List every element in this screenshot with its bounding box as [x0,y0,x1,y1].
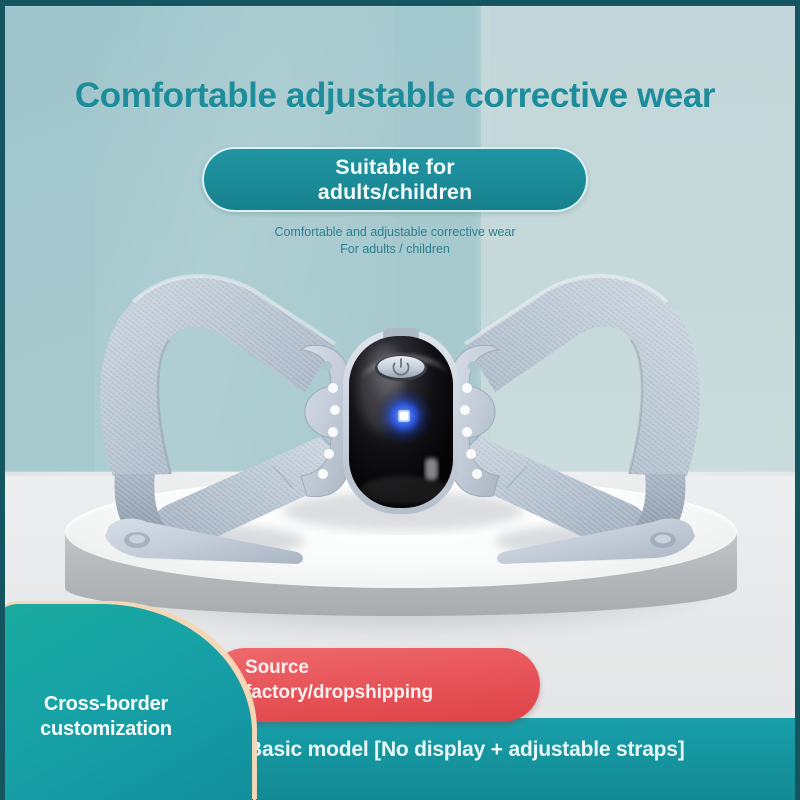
led-indicator [374,386,434,446]
power-button[interactable] [375,355,427,381]
page-title: Comfortable adjustable corrective wear [0,76,790,116]
cross-border-text: Cross-border customization [8,692,204,742]
subtitle-line-1: Comfortable and adjustable corrective we… [0,224,790,241]
source-line-2: factory/dropshipping [245,680,545,705]
badge-line-1: Suitable for [335,155,454,180]
subtitle-line-2: For adults / children [0,241,790,258]
subtitle-block: Comfortable and adjustable corrective we… [0,224,790,258]
cross-border-line-1: Cross-border [8,692,204,717]
source-line-1: Source [245,655,545,680]
suitability-badge: Suitable for adults/children [202,147,588,212]
source-factory-text: Source factory/dropshipping [245,655,545,705]
cross-border-line-2: customization [8,717,204,742]
badge-line-2: adults/children [318,180,472,205]
model-info-text: Basic model [No display + adjustable str… [247,738,787,762]
product-marketing-image: Comfortable adjustable corrective wear S… [0,0,800,800]
control-module [343,328,459,514]
